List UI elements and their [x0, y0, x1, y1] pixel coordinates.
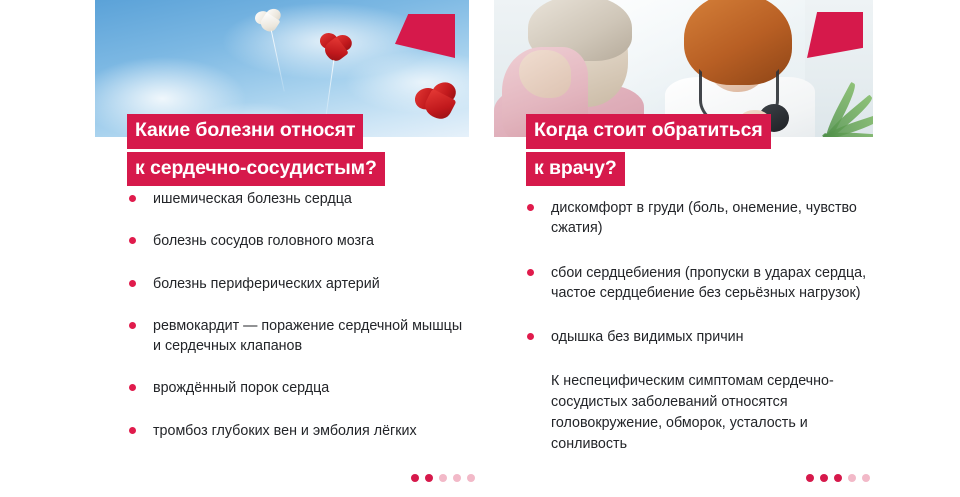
slide-deck: Какие болезни относят к сердечно-сосудис… — [0, 0, 960, 497]
heading-line-2: к врачу? — [526, 152, 625, 187]
pagination-dot-1[interactable] — [411, 474, 419, 482]
bullet-dot-icon — [527, 333, 534, 340]
disease-list: ишемическая болезнь сердца болезнь сосуд… — [129, 189, 469, 463]
list-item: ишемическая болезнь сердца — [129, 189, 469, 209]
list-item-label: сбои сердцебиения (пропуски в ударах сер… — [551, 265, 866, 301]
bullet-dot-icon — [129, 384, 136, 391]
pagination-dot-5[interactable] — [862, 474, 870, 482]
pagination-dot-2[interactable] — [425, 474, 433, 482]
list-item: врождённый порок сердца — [129, 378, 469, 398]
list-item-label: врождённый порок сердца — [153, 380, 329, 396]
list-item: болезнь периферических артерий — [129, 274, 469, 294]
list-item-label: тромбоз глубоких вен и эмболия лёгких — [153, 423, 417, 439]
heading-line-1: Когда стоит обратиться — [526, 114, 771, 149]
bullet-dot-icon — [129, 237, 136, 244]
list-item: тромбоз глубоких вен и эмболия лёгких — [129, 421, 469, 441]
list-item: болезнь сосудов головного мозга — [129, 231, 469, 251]
pagination-dot-3[interactable] — [439, 474, 447, 482]
list-item-label: ревмокардит — поражение сердечной мышцы … — [153, 318, 462, 354]
pagination-dots[interactable] — [411, 474, 475, 482]
bullet-dot-icon — [527, 204, 534, 211]
bullet-dot-icon — [129, 322, 136, 329]
pagination-dot-2[interactable] — [820, 474, 828, 482]
card-when-to-see-doctor[interactable]: Когда стоит обратиться к врачу? дискомфо… — [494, 0, 873, 497]
card-heading: Когда стоит обратиться к врачу? — [526, 114, 771, 186]
list-item-label: ишемическая болезнь сердца — [153, 191, 352, 207]
pagination-dot-3[interactable] — [834, 474, 842, 482]
pagination-dot-4[interactable] — [453, 474, 461, 482]
list-item-label: одышка без видимых причин — [551, 329, 744, 345]
heart-balloon-white-icon — [254, 7, 284, 36]
card-heading: Какие болезни относят к сердечно-сосудис… — [127, 114, 385, 186]
list-item-label: дискомфорт в груди (боль, онемение, чувс… — [551, 200, 857, 236]
pagination-dot-5[interactable] — [467, 474, 475, 482]
additional-note: К неспецифическим симптомам сердечно-сос… — [527, 371, 873, 454]
pagination-dot-4[interactable] — [848, 474, 856, 482]
bullet-dot-icon — [129, 280, 136, 287]
list-item: сбои сердцебиения (пропуски в ударах сер… — [527, 263, 873, 304]
list-item-label: болезнь сосудов головного мозга — [153, 233, 374, 249]
bullet-dot-icon — [527, 269, 534, 276]
heading-line-1: Какие болезни относят — [127, 114, 363, 149]
list-item: ревмокардит — поражение сердечной мышцы … — [129, 316, 469, 357]
pagination-dots[interactable] — [806, 474, 870, 482]
heading-line-2: к сердечно-сосудистым? — [127, 152, 385, 187]
list-item: дискомфорт в груди (боль, онемение, чувс… — [527, 198, 873, 239]
list-item-label: болезнь периферических артерий — [153, 276, 380, 292]
card-cvd-types[interactable]: Какие болезни относят к сердечно-сосудис… — [95, 0, 469, 497]
patient-hand — [519, 50, 571, 98]
heart-balloon-red-icon — [318, 32, 354, 65]
bullet-dot-icon — [129, 427, 136, 434]
list-item: одышка без видимых причин — [527, 327, 873, 347]
pagination-dot-1[interactable] — [806, 474, 814, 482]
bullet-dot-icon — [129, 195, 136, 202]
symptom-list: дискомфорт в груди (боль, онемение, чувс… — [527, 198, 873, 454]
